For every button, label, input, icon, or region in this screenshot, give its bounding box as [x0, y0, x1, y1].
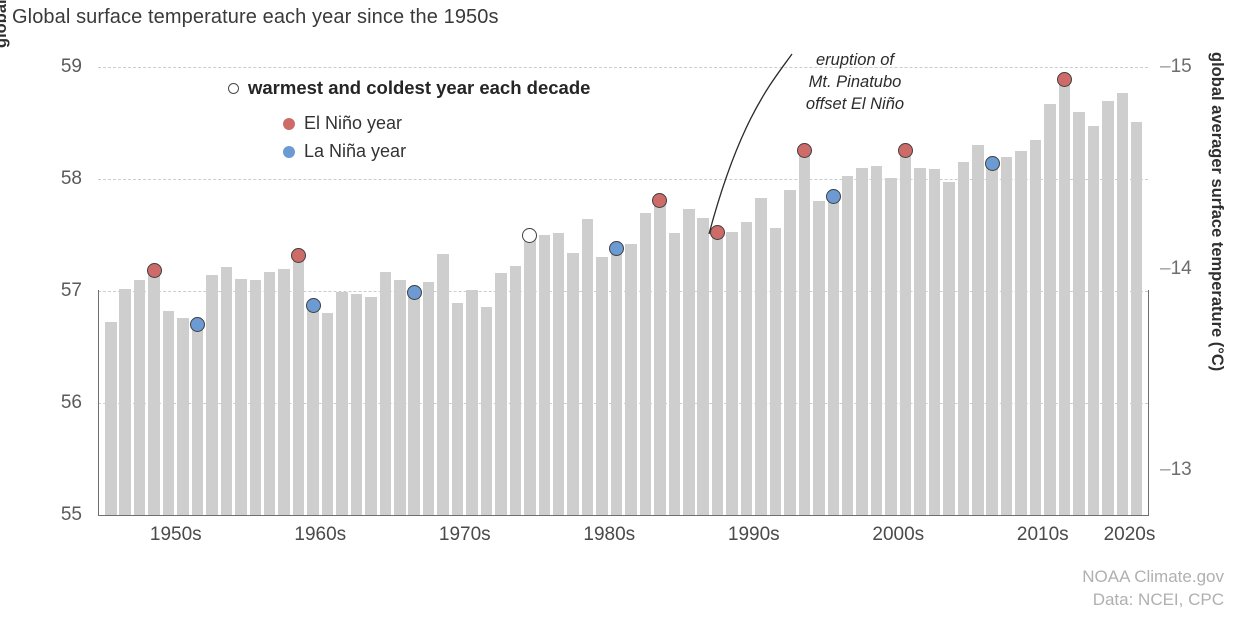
y-axis-left-line: [98, 290, 99, 516]
bar: [654, 204, 666, 515]
bar: [1030, 140, 1042, 515]
bar: [163, 311, 175, 515]
x-tick-2020s: 2020s: [1104, 524, 1156, 546]
x-tick-1990s: 1990s: [728, 524, 780, 546]
bar: [250, 280, 262, 515]
bar: [423, 282, 435, 515]
bar: [943, 182, 955, 515]
x-tick-1960s: 1960s: [294, 524, 346, 546]
bar: [986, 167, 998, 515]
bar: [813, 201, 825, 515]
legend-item-el-nino[interactable]: El Niño year: [283, 113, 402, 134]
bar: [1073, 112, 1085, 515]
bar: [553, 233, 565, 515]
source-credit: NOAA Climate.gov Data: NCEI, CPC: [1082, 566, 1224, 612]
bar: [712, 235, 724, 515]
bar: [1117, 93, 1129, 515]
marker-lanina-1964: [306, 298, 321, 313]
bar: [293, 259, 305, 515]
bar: [510, 266, 522, 515]
bar: [206, 275, 218, 515]
bar: [567, 253, 579, 515]
bar: [148, 273, 160, 515]
bar: [683, 209, 695, 515]
bar: [394, 280, 406, 515]
red-circle-icon: [283, 118, 295, 130]
bar: [1044, 104, 1056, 515]
marker-elnino-1953: [147, 263, 162, 278]
bar: [1088, 126, 1100, 515]
bar: [582, 219, 594, 515]
bar: [1001, 157, 1013, 515]
bar: [452, 303, 464, 515]
y-tick-left-57: 57: [26, 280, 82, 302]
bar: [828, 199, 840, 515]
bar: [307, 309, 319, 515]
gridline-59: [98, 67, 1148, 68]
legend-label-el-nino: El Niño year: [304, 113, 402, 133]
x-tick-2010s: 2010s: [1017, 524, 1069, 546]
legend-label-la-nina: La Niña year: [304, 141, 406, 161]
bar: [958, 162, 970, 515]
bar: [640, 213, 652, 515]
credit-line-2: Data: NCEI, CPC: [1082, 589, 1224, 612]
bar: [336, 292, 348, 515]
open-circle-icon: [228, 83, 239, 94]
bar: [741, 222, 753, 515]
y-axis-right-label: global averager surface temperature (°C): [1207, 52, 1226, 522]
bar: [900, 153, 912, 515]
bar: [105, 322, 117, 515]
bar: [929, 169, 941, 515]
marker-lanina-1971: [407, 285, 422, 300]
bar: [235, 279, 247, 515]
bar: [625, 244, 637, 515]
bar: [885, 178, 897, 515]
bar: [1102, 101, 1114, 515]
bar: [856, 168, 868, 515]
bar: [495, 273, 507, 515]
bar: [914, 168, 926, 515]
bar: [871, 166, 883, 515]
marker-lanina-2000: [826, 189, 841, 204]
bar: [177, 318, 189, 515]
bar: [134, 280, 146, 515]
bar: [524, 238, 536, 515]
bar: [770, 228, 782, 515]
bar: [799, 153, 811, 515]
bar: [192, 328, 204, 515]
bar: [1015, 151, 1027, 515]
bar: [596, 257, 608, 515]
y-tick-left-55: 55: [26, 504, 82, 526]
credit-line-1: NOAA Climate.gov: [1082, 566, 1224, 589]
bar: [726, 232, 738, 515]
bar: [972, 145, 984, 515]
legend-item-la-nina[interactable]: La Niña year: [283, 141, 406, 162]
y-axis-left-label: global averager surface temperature (°F): [0, 0, 11, 48]
legend-item-extreme-year[interactable]: warmest and coldest year each decade: [228, 77, 590, 99]
marker-lanina-2011: [985, 156, 1000, 171]
bar: [466, 290, 478, 515]
bar: [437, 254, 449, 515]
bar: [278, 269, 290, 515]
chart-plot-area: [98, 67, 1148, 515]
annotation-leader-line: [680, 48, 800, 248]
marker-elnino-2005: [898, 143, 913, 158]
bar: [1131, 122, 1143, 515]
x-tick-1970s: 1970s: [439, 524, 491, 546]
x-tick-1950s: 1950s: [150, 524, 202, 546]
x-tick-2000s: 2000s: [872, 524, 924, 546]
blue-circle-icon: [283, 146, 295, 158]
y-tick-left-58: 58: [26, 168, 82, 190]
bar: [408, 295, 420, 515]
x-axis-line: [98, 515, 1148, 516]
bar: [669, 233, 681, 515]
bar: [1059, 83, 1071, 515]
legend-label-extreme-year: warmest and coldest year each decade: [248, 77, 590, 98]
bar: [264, 272, 276, 515]
y-tick-left-56: 56: [26, 392, 82, 414]
bar: [119, 289, 131, 515]
bar: [539, 235, 551, 515]
bar: [351, 294, 363, 515]
bar: [697, 218, 709, 515]
bar: [842, 176, 854, 515]
bar: [221, 267, 233, 515]
bar: [380, 272, 392, 515]
y-axis-right-line: [1148, 290, 1149, 516]
bar: [481, 307, 493, 515]
x-tick-1980s: 1980s: [583, 524, 635, 546]
bar: [365, 297, 377, 515]
y-tick-left-59: 59: [26, 56, 82, 78]
bar: [611, 252, 623, 515]
bar: [322, 313, 334, 515]
page-title: Global surface temperature each year sin…: [12, 6, 499, 29]
